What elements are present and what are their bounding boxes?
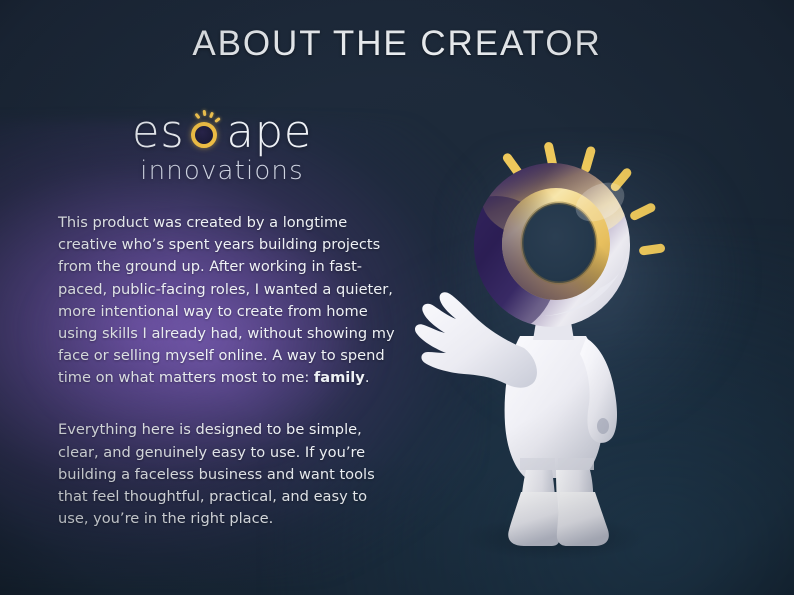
mascot-right-boot-cuff [558,458,594,470]
about-the-creator-slide: ABOUT THE CREATOR es ape innovations Thi… [0,0,794,595]
mascot-illustration [404,140,704,560]
about-copy: This product was created by a longtime c… [58,212,402,530]
about-paragraph-1: This product was created by a longtime c… [58,212,402,389]
brand-logo-subtitle: innovations [122,156,322,186]
brand-logo-word-prefix: es [132,109,184,154]
sun-ring-icon [185,108,225,154]
mascot-right-hand-detail [597,418,609,434]
mascot-right-boot [557,492,609,546]
about-paragraph-1-tail: . [365,369,370,386]
brand-logo-word-suffix: ape [226,109,312,154]
page-title: ABOUT THE CREATOR [0,24,794,64]
about-paragraph-1-emphasis: family [314,369,365,386]
brand-logo: es ape innovations [122,108,322,186]
brand-logo-wordmark: es ape [122,108,322,154]
mascot-left-boot-cuff [520,458,555,470]
mascot-left-boot [508,492,560,546]
about-paragraph-2: Everything here is designed to be simple… [58,419,402,530]
about-paragraph-1-text: This product was created by a longtime c… [58,214,395,386]
